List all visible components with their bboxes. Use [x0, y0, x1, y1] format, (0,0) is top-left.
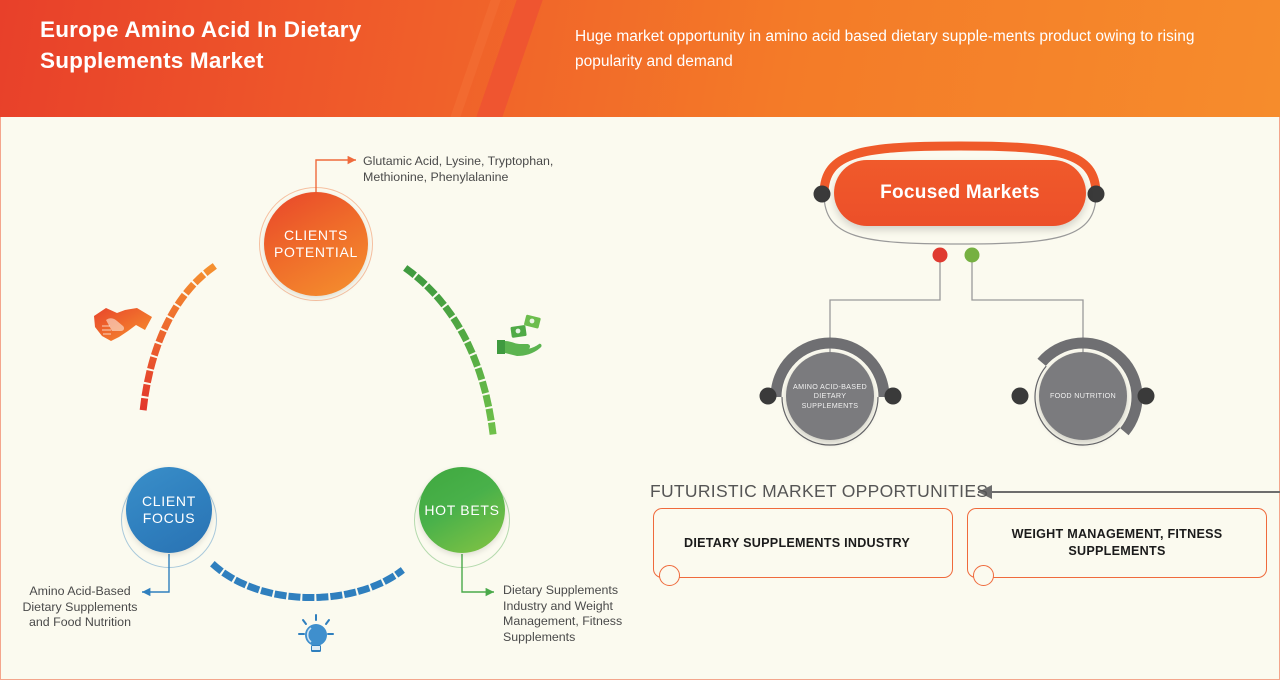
header-diagonal-stripe [468, 0, 549, 117]
opportunity-marker-2 [973, 565, 994, 586]
annotation-clients-potential: Glutamic Acid, Lysine, Tryptophan, Methi… [363, 154, 563, 185]
market-node-amino-acid-based[interactable]: AMINO ACID-BASED DIETARY SUPPLEMENTS [786, 352, 874, 440]
focused-markets-pill[interactable]: Focused Markets [834, 160, 1086, 226]
lightbulb-icon [298, 614, 334, 658]
market-node-food-nutrition[interactable]: FOOD NUTRITION [1039, 352, 1127, 440]
header-banner: Europe Amino Acid In Dietary Supplements… [0, 0, 1280, 117]
opportunity-marker-1 [659, 565, 680, 586]
futuristic-section-title: FUTURISTIC MARKET OPPORTUNITIES [650, 481, 988, 502]
annotation-client-focus: Amino Acid-Based Dietary Supplements and… [20, 584, 140, 631]
node-client-focus[interactable]: CLIENT FOCUS [126, 467, 212, 553]
opportunity-box-weight-management[interactable]: WEIGHT MANAGEMENT, FITNESS SUPPLEMENTS [967, 508, 1267, 578]
header-subtitle: Huge market opportunity in amino acid ba… [575, 24, 1215, 74]
infographic-root: Europe Amino Acid In Dietary Supplements… [0, 0, 1280, 680]
node-clients-potential[interactable]: CLIENTS POTENTIAL [264, 192, 368, 296]
money-hand-icon [495, 310, 543, 358]
handshake-icon [92, 300, 154, 346]
node-hot-bets[interactable]: HOT BETS [419, 467, 505, 553]
annotation-hot-bets: Dietary Supplements Industry and Weight … [503, 583, 653, 645]
opportunity-box-dietary-supplements[interactable]: DIETARY SUPPLEMENTS INDUSTRY [653, 508, 953, 578]
page-title: Europe Amino Acid In Dietary Supplements… [40, 14, 470, 76]
